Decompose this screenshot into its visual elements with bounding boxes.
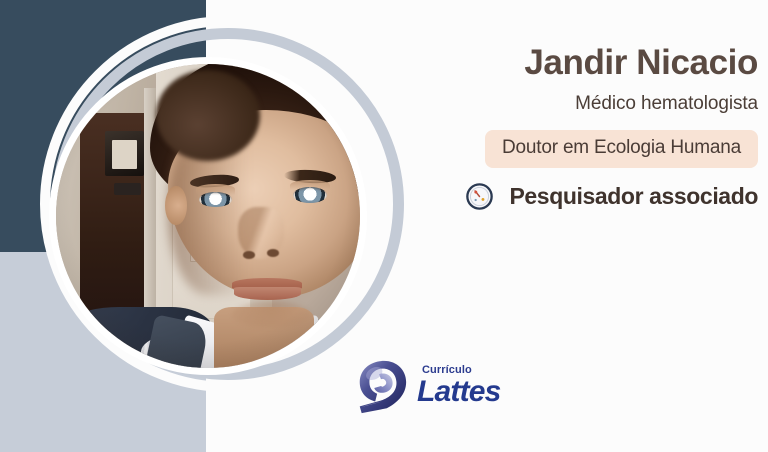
avatar — [49, 57, 367, 375]
lattes-logo[interactable]: Currículo Lattes — [352, 358, 501, 416]
profile-photo — [56, 64, 360, 368]
degree-badge-row: Doutor em Ecologia Humana — [410, 130, 758, 168]
profile-card: Jandir Nicacio Médico hematologista Dout… — [0, 0, 768, 452]
status-badge: Doutor em Ecologia Humana — [485, 130, 758, 168]
lattes-wordmark: Currículo Lattes — [417, 365, 501, 409]
lattes-name-text: Lattes — [417, 377, 501, 407]
lattes-circle-icon — [466, 183, 493, 210]
role-label: Pesquisador associado — [509, 183, 758, 210]
profile-subtitle: Médico hematologista — [410, 93, 758, 115]
page-title: Jandir Nicacio — [410, 44, 758, 81]
profile-info: Jandir Nicacio Médico hematologista Dout… — [410, 44, 758, 210]
lattes-swirl-icon — [352, 358, 410, 416]
role-row: Pesquisador associado — [410, 183, 758, 210]
